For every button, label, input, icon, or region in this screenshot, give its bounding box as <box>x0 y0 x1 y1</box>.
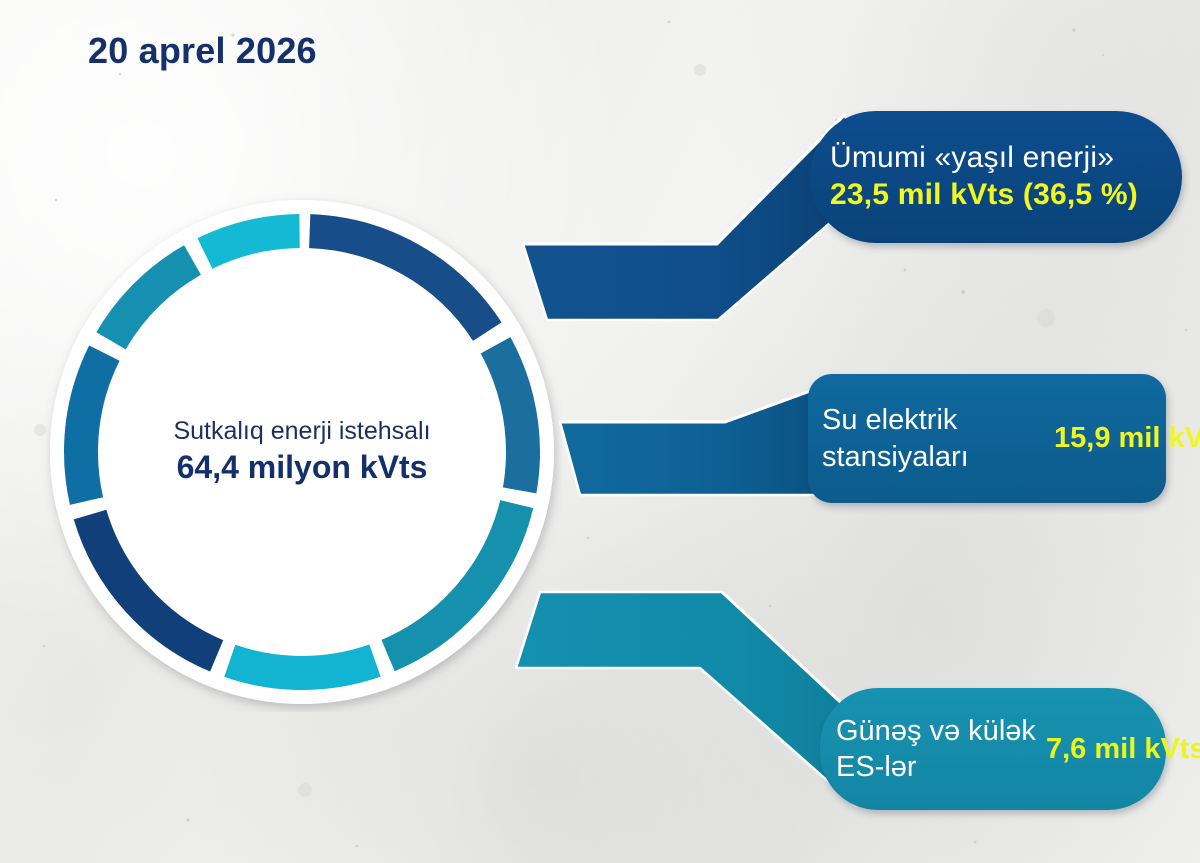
donut-hole <box>99 249 505 655</box>
callout-3-value: 7,6 mil kVts <box>1046 731 1200 767</box>
page-title: 20 aprel 2026 <box>88 30 317 72</box>
callout-2-label: Su elektrik stansiyaları <box>822 402 1054 475</box>
callout-su-elektrik-stansiyalari[interactable]: Su elektrik stansiyaları 15,9 mil kVts <box>808 374 1166 503</box>
callout-3-label: Günəş və külək ES-lər <box>836 713 1046 786</box>
callout-1-value: 23,5 mil kVts (36,5 %) <box>830 177 1138 214</box>
donut-chart: Sutkalıq enerji istehsalı 64,4 milyon kV… <box>42 192 562 712</box>
callout-umumi-yasil-enerji[interactable]: Ümumi «yaşıl enerji» 23,5 mil kVts (36,5… <box>810 111 1182 243</box>
donut-chart-svg <box>42 192 562 712</box>
callout-2-value: 15,9 mil kVts <box>1054 420 1200 456</box>
callout-1-label: Ümumi «yaşıl enerji» <box>830 140 1114 177</box>
infographic-canvas: 20 aprel 2026 <box>0 0 1200 863</box>
callout-gunes-ve-kulek-es-ler[interactable]: Günəş və külək ES-lər 7,6 mil kVts <box>820 688 1166 810</box>
